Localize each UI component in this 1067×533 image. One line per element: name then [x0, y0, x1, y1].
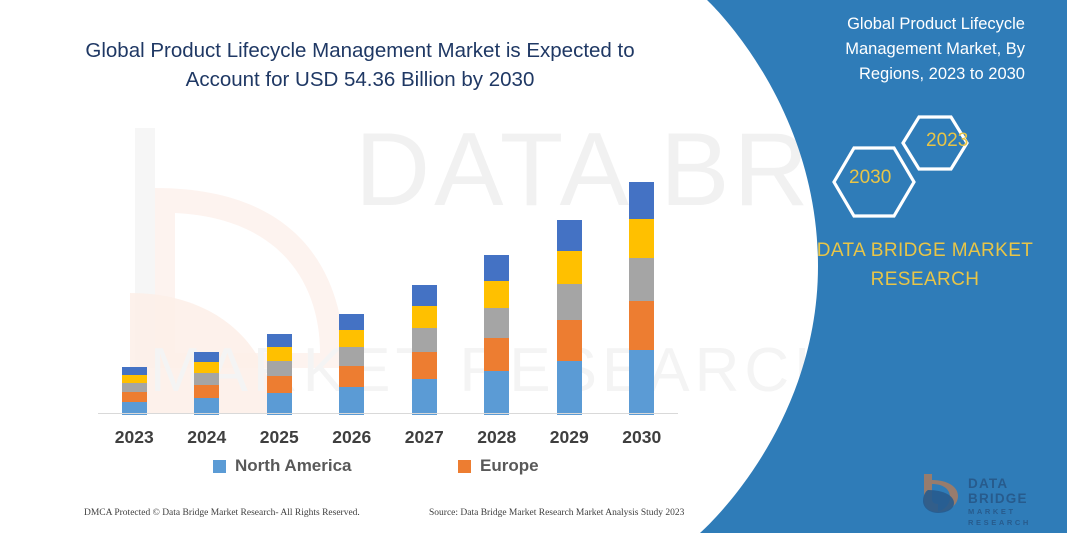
bar-group — [557, 220, 582, 415]
x-axis-label: 2024 — [171, 427, 243, 448]
bar-segment — [339, 347, 364, 366]
bar-segment — [122, 383, 147, 392]
bar-group — [194, 352, 219, 415]
bar-segment — [122, 392, 147, 402]
bar-segment — [339, 330, 364, 347]
bar-group — [484, 255, 509, 415]
bar-segment — [484, 281, 509, 308]
bar-segment — [484, 371, 509, 415]
legend-swatch-icon — [213, 460, 226, 473]
bar-segment — [557, 361, 582, 415]
bar-segment — [557, 284, 582, 320]
stacked-bar-chart — [98, 120, 678, 415]
bar-segment — [629, 258, 654, 301]
bar-group — [267, 334, 292, 415]
bar-segment — [267, 334, 292, 347]
bar-segment — [629, 301, 654, 350]
corner-logo: DATA BRIDGE MARKET RESEARCH — [918, 470, 1058, 518]
x-axis-label: 2027 — [388, 427, 460, 448]
bar-segment — [484, 338, 509, 371]
bar-segment — [557, 220, 582, 251]
bar-segment — [484, 308, 509, 338]
bar-segment — [412, 328, 437, 352]
hexagon-badges: 2030 2023 — [825, 108, 1015, 220]
bar-group — [339, 314, 364, 415]
bar-segment — [339, 387, 364, 415]
bar-segment — [194, 352, 219, 362]
bar-segment — [194, 362, 219, 373]
left-panel: Global Product Lifecycle Management Mark… — [0, 0, 720, 533]
brand-name: DATA BRIDGE MARKET RESEARCH — [800, 236, 1050, 294]
right-panel-content: Global Product Lifecycle Management Mark… — [800, 0, 1067, 533]
bar-group — [122, 367, 147, 415]
x-axis-label: 2026 — [316, 427, 388, 448]
bar-segment — [484, 255, 509, 281]
bar-segment — [412, 285, 437, 306]
bar-segment — [267, 376, 292, 393]
hexagon-label-2030: 2030 — [849, 167, 891, 189]
x-axis-line — [98, 413, 678, 414]
legend-label: Europe — [480, 456, 539, 476]
bar-segment — [412, 306, 437, 328]
bar-segment — [122, 367, 147, 375]
bar-segment — [629, 219, 654, 258]
corner-logo-line-1: DATA BRIDGE — [968, 476, 1058, 506]
bar-segment — [267, 361, 292, 376]
chart-title: Global Product Lifecycle Management Mark… — [60, 36, 660, 94]
corner-logo-text: DATA BRIDGE MARKET RESEARCH — [968, 476, 1058, 528]
bar-segment — [339, 366, 364, 387]
legend-swatch-icon — [458, 460, 471, 473]
legend-label: North America — [235, 456, 352, 476]
corner-logo-line-2: MARKET RESEARCH — [968, 506, 1058, 528]
bar-group — [412, 285, 437, 415]
legend-item[interactable]: North America — [213, 456, 352, 476]
x-axis-label: 2025 — [243, 427, 315, 448]
footer-source: Source: Data Bridge Market Research Mark… — [429, 508, 684, 518]
x-axis-label: 2030 — [606, 427, 678, 448]
brand-line-1: DATA BRIDGE MARKET — [800, 236, 1050, 265]
bar-segment — [194, 373, 219, 385]
bar-segment — [629, 182, 654, 219]
bar-segment — [629, 350, 654, 415]
hexagon-outlines-icon — [825, 108, 1015, 220]
brand-line-2: RESEARCH — [800, 265, 1050, 294]
bar-segment — [267, 347, 292, 361]
x-axis-label: 2028 — [461, 427, 533, 448]
footer-copyright: DMCA Protected © Data Bridge Market Rese… — [84, 508, 360, 518]
x-axis-label: 2029 — [533, 427, 605, 448]
bar-segment — [267, 393, 292, 415]
bar-group — [629, 182, 654, 415]
bar-segment — [339, 314, 364, 330]
infographic-root: DATA BRIDGE MARKET RESEARCH Global Produ… — [0, 0, 1067, 533]
hexagon-label-2023: 2023 — [926, 130, 968, 152]
bar-segment — [194, 385, 219, 398]
chart-legend: North AmericaEurope — [98, 456, 678, 480]
data-bridge-logo-icon — [918, 470, 964, 514]
right-panel-title: Global Product Lifecycle Management Mark… — [790, 12, 1047, 87]
bar-segment — [557, 320, 582, 361]
bar-segment — [412, 379, 437, 415]
footer: DMCA Protected © Data Bridge Market Rese… — [84, 508, 684, 524]
x-axis-label: 2023 — [98, 427, 170, 448]
bar-segment — [557, 251, 582, 284]
legend-item[interactable]: Europe — [458, 456, 539, 476]
bar-segment — [412, 352, 437, 379]
bar-segment — [122, 375, 147, 383]
x-axis-labels: 20232024202520262027202820292030 — [98, 427, 678, 455]
